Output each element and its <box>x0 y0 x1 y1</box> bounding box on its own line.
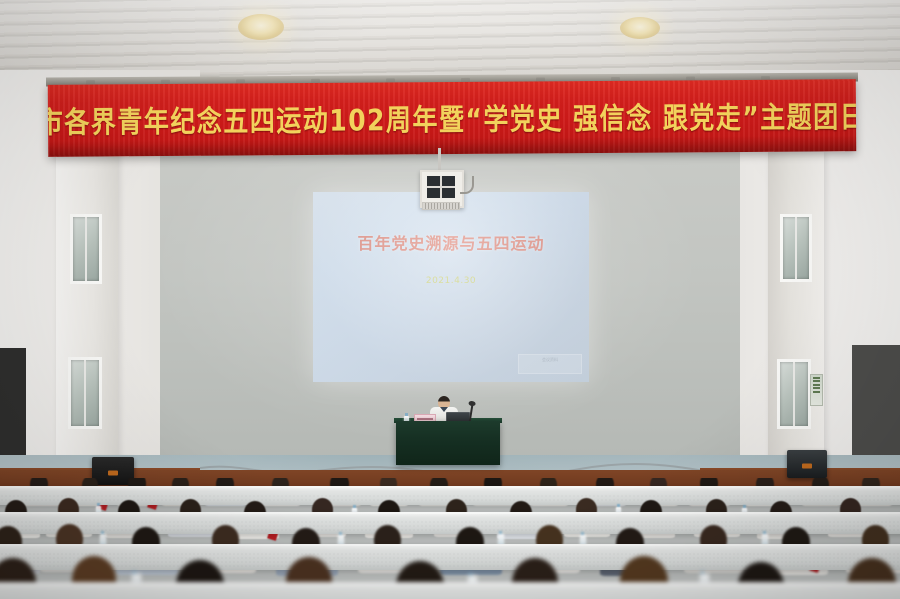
ceiling-panels <box>0 0 900 80</box>
pillar-window <box>68 357 102 429</box>
event-banner: 北海市各界青年纪念五四运动102周年暨“学党史 强信念 跟党走”主题团日活动 <box>48 79 856 157</box>
ceiling-light-icon <box>620 17 660 39</box>
desk-row <box>0 582 900 599</box>
slide-title: 百年党史溯源与五四运动 <box>313 230 589 254</box>
stage-speaker-icon <box>787 450 827 478</box>
banner-title-text: 北海市各界青年纪念五四运动102周年暨“学党史 强信念 跟党走”主题团日活动 <box>48 93 856 142</box>
right-pillar <box>768 152 824 482</box>
pillar-window <box>777 359 811 429</box>
conference-hall-photo: 北海市各界青年纪念五四运动102周年暨“学党史 强信念 跟党走”主题团日活动 百… <box>0 0 900 599</box>
slide-date: 2021.4.30 <box>313 276 589 286</box>
ceiling-projector-icon <box>420 170 460 208</box>
pillar-window <box>780 214 812 282</box>
projection-screen: 百年党史溯源与五四运动 2021.4.30 会议资料 <box>313 192 589 382</box>
emergency-notice-sign <box>810 374 823 406</box>
left-pillar <box>56 152 118 482</box>
ceiling-light-icon <box>238 14 284 40</box>
audience-seating <box>0 478 900 599</box>
slide-watermark: 会议资料 <box>518 354 582 374</box>
pillar-window <box>70 214 102 284</box>
presenter-table <box>396 421 500 465</box>
